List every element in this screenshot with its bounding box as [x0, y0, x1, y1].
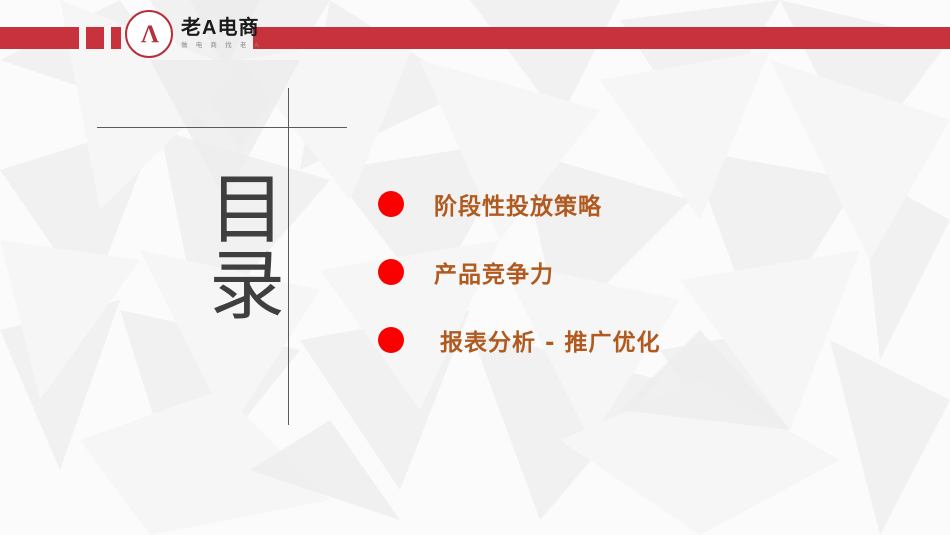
bullet-dot-icon	[378, 191, 404, 217]
logo-text-block: 老A电商 做 电 商 找 老 A	[181, 18, 262, 50]
list-item[interactable]: 产品竞争力	[378, 238, 878, 306]
horizontal-rule	[97, 127, 347, 128]
logo-monogram: Λ	[127, 12, 171, 56]
header-bar-medium	[86, 27, 104, 49]
page-title: 目录	[186, 155, 276, 335]
list-item[interactable]: 阶段性投放策略	[378, 170, 878, 238]
logo-circle-icon: Λ	[125, 10, 173, 58]
header-bar-long-left	[0, 27, 79, 49]
slide-header: Λ 老A电商 做 电 商 找 老 A	[0, 0, 950, 66]
vertical-rule	[288, 88, 289, 425]
header-bar-right	[253, 27, 950, 49]
agenda-item-label: 报表分析 - 推广优化	[440, 323, 661, 357]
list-item[interactable]: 报表分析 - 推广优化	[378, 306, 878, 374]
presentation-slide: Λ 老A电商 做 电 商 找 老 A 目录 阶段性投放策略 产品竞争力 报表分析…	[0, 0, 950, 535]
logo-title: 老A电商	[181, 18, 262, 39]
brand-logo: Λ 老A电商 做 电 商 找 老 A	[125, 10, 260, 58]
logo-subtitle: 做 电 商 找 老 A	[181, 41, 262, 50]
bullet-dot-icon	[378, 327, 404, 353]
header-bar-small	[111, 27, 121, 49]
agenda-list: 阶段性投放策略 产品竞争力 报表分析 - 推广优化	[378, 170, 878, 374]
agenda-item-label: 产品竞争力	[434, 255, 554, 289]
agenda-item-label: 阶段性投放策略	[434, 187, 602, 221]
bullet-dot-icon	[378, 259, 404, 285]
